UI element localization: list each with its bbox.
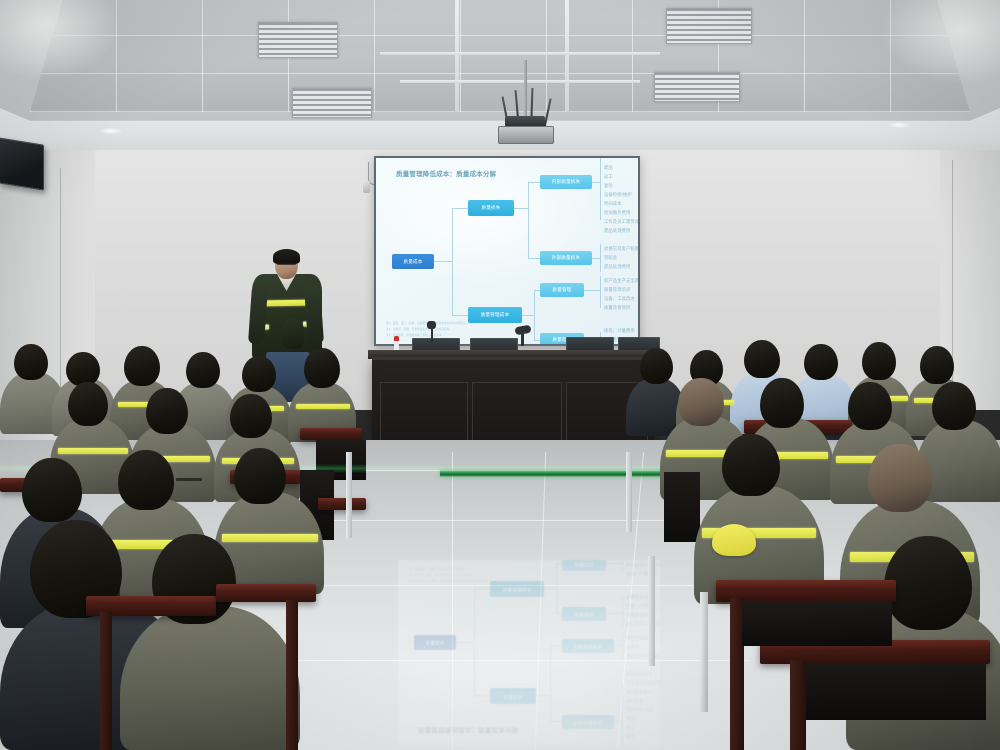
ceiling-vent xyxy=(654,72,740,102)
slide-title: 质量管理降低成本：质量成本分解 xyxy=(418,726,518,735)
mindmap-leaf: 罚赔金 xyxy=(604,255,617,261)
connector xyxy=(528,182,540,184)
audience-head xyxy=(920,346,954,384)
audience-head xyxy=(22,458,82,522)
audience-head xyxy=(868,444,932,512)
connector xyxy=(528,258,540,260)
connector xyxy=(592,258,600,260)
wall-speaker xyxy=(0,137,44,190)
mindmap-leaf: 废品 xyxy=(626,733,635,739)
connector xyxy=(600,244,602,272)
projector-mount-pole xyxy=(524,60,527,118)
mindmap-branch-node: 质量管理成本 xyxy=(490,581,544,597)
screen-wall-plug xyxy=(363,181,370,193)
audience-head-foreground xyxy=(884,536,972,630)
connector xyxy=(550,720,562,722)
audience-head xyxy=(722,434,780,496)
reflective-stripe xyxy=(58,448,128,454)
mindmap-leaf: 废品 xyxy=(604,165,613,171)
slide-footnote: 注2：退换货、赔偿、罚金等发生在交付后的外部损失。 xyxy=(386,327,452,331)
mindmap-leaf: 时间成本 xyxy=(604,201,622,207)
bench-desk xyxy=(300,428,362,440)
downlight xyxy=(888,122,910,128)
audience-head xyxy=(66,352,100,386)
ceiling-beam xyxy=(455,0,459,112)
audience-head xyxy=(640,348,673,384)
connector xyxy=(474,694,490,696)
mindmap-leaf: 返工 xyxy=(604,174,613,180)
reflective-stripe xyxy=(222,534,318,542)
floor-tile-line xyxy=(326,520,686,521)
connector xyxy=(600,276,602,308)
meeting-room-photo: 质量管理降低成本：质量成本分解 质量成本 质量损失 质量管理成本 内部质量损失 … xyxy=(0,0,1000,750)
wall-seam xyxy=(60,168,61,418)
mindmap-leaf: 工作及员工需劳动力损失 xyxy=(626,679,660,685)
mindmap-leaf: 设备检修/维护 xyxy=(626,706,654,712)
bench-desk xyxy=(318,498,366,510)
connector xyxy=(606,562,622,564)
reflective-stripe xyxy=(296,404,350,409)
floor-slide-reflection: 质量管理降低成本：质量成本分解 质量成本 质量损失 质量管理成本 内部质量损失 … xyxy=(398,560,660,746)
connector xyxy=(550,644,562,646)
connector xyxy=(528,182,530,258)
audience-head xyxy=(242,356,276,392)
ceiling-recess xyxy=(30,0,970,112)
audience-torso-foreground xyxy=(120,606,300,750)
mindmap-leaf: 退换货及客户赔偿费用 xyxy=(604,246,638,252)
ceiling-vent xyxy=(666,8,752,44)
mindmap-sub-node: 外部质量损失 xyxy=(540,251,592,265)
connector xyxy=(452,208,468,210)
mindmap-leaf: 废品处理费用 xyxy=(626,670,652,676)
mindmap-root-node: 质量成本 xyxy=(414,635,456,650)
mindmap-leaf: 罚赔金 xyxy=(626,643,639,649)
ceiling-vent xyxy=(292,88,372,118)
mindmap-leaf: 质量改善项目 xyxy=(604,305,630,311)
audience-head xyxy=(304,348,340,388)
desk-shadow xyxy=(742,602,892,646)
mindmap-sub-node: 质量管理 xyxy=(562,607,606,621)
desk-shadow xyxy=(664,472,700,542)
mindmap-branch-node: 质量管理成本 xyxy=(468,307,522,323)
connector xyxy=(534,290,536,340)
audience-head xyxy=(678,378,724,426)
connector xyxy=(452,315,468,317)
connector xyxy=(592,182,600,184)
audience-head xyxy=(862,342,896,380)
ceiling-beam xyxy=(565,0,569,112)
chair-frame xyxy=(790,660,806,750)
audience-head xyxy=(68,382,108,426)
mindmap-sub-node: 外部质量损失 xyxy=(562,639,614,653)
connector xyxy=(622,596,624,628)
mindmap-leaf: 废品处理费用 xyxy=(604,228,630,234)
mindmap-leaf: 附加额外费用 xyxy=(626,688,652,694)
mindmap-sub-node: 内部质量损失 xyxy=(540,175,592,189)
audience-head xyxy=(234,448,286,504)
mindmap-leaf: 设备、工具改进 xyxy=(604,296,635,302)
audience-head xyxy=(760,378,804,428)
desk-metal-leg xyxy=(346,452,352,538)
audience-glasses xyxy=(176,478,202,481)
audience-head xyxy=(848,382,892,430)
connector xyxy=(622,560,624,572)
ceiling-projector xyxy=(498,126,554,144)
mindmap-leaf: 返工 xyxy=(626,724,635,730)
mindmap-leaf: 质量管理培训 xyxy=(604,287,630,293)
connector xyxy=(474,587,490,589)
connector xyxy=(614,644,622,646)
mindmap-sub-node: 质量检验 xyxy=(562,560,606,571)
audience-head xyxy=(124,346,160,386)
mindmap-leaf: 废品处理费用 xyxy=(604,264,630,270)
desk-metal-leg xyxy=(700,592,708,712)
connector xyxy=(614,720,622,722)
chair-frame xyxy=(100,612,112,750)
mindmap-leaf: 时间成本 xyxy=(626,697,644,703)
mindmap-leaf: 设备检修/维护 xyxy=(604,192,632,198)
mindmap-branch-node: 质量损失 xyxy=(468,200,514,216)
connector xyxy=(514,208,528,210)
audience-head xyxy=(744,340,780,378)
desk-metal-leg xyxy=(648,556,655,666)
mindmap-leaf: 复检 xyxy=(626,715,635,721)
mindmap-sub-node: 内部质量损失 xyxy=(562,715,614,729)
ceiling-beam xyxy=(400,80,640,83)
connector xyxy=(474,589,476,696)
audience-head xyxy=(186,352,220,388)
mindmap-sub-node: 质量管理 xyxy=(540,283,584,297)
wall-seam xyxy=(952,160,953,390)
connector xyxy=(622,684,624,746)
slide-footnote: 注1：废品、返工、复检、设备检修维护等发生在交付前的内部损失。 xyxy=(408,579,490,583)
connector xyxy=(584,290,600,292)
connector xyxy=(522,315,534,317)
slide-footnote: 注3：质量管理、质量检验属于预防与鉴定成本。 xyxy=(408,567,466,571)
audience-head xyxy=(118,450,174,510)
connector xyxy=(456,641,474,643)
audience-head xyxy=(932,382,976,430)
mindmap-leaf: 质检、计量费用 xyxy=(604,328,635,334)
chair-frame xyxy=(286,600,298,750)
desk-shadow xyxy=(806,664,986,720)
slide-title: 质量管理降低成本：质量成本分解 xyxy=(396,169,496,178)
bench-desk xyxy=(216,584,316,602)
audience-head xyxy=(230,394,272,438)
presenter-hair xyxy=(273,249,300,264)
mindmap-root-node: 质量成本 xyxy=(392,254,434,269)
connector xyxy=(556,564,558,614)
connector xyxy=(536,694,550,696)
mindmap-branch-node: 质量损失 xyxy=(490,688,536,704)
mindmap-leaf: 附加额外费用 xyxy=(604,210,630,216)
presenter-hand-held-item xyxy=(282,319,304,349)
podium-microphone-left xyxy=(431,327,433,343)
presenter-glasses xyxy=(277,263,296,265)
ceiling-vent xyxy=(258,22,338,58)
audience-head xyxy=(14,344,48,380)
downlight xyxy=(100,128,122,134)
connector xyxy=(550,646,552,722)
ceiling-grid xyxy=(30,0,970,112)
mindmap-leaf: 新产品生产支出及改进 xyxy=(604,278,638,284)
connector xyxy=(452,208,454,315)
mindmap-leaf: 工作及员工需劳动力损失 xyxy=(604,219,638,225)
connector xyxy=(600,158,602,220)
connector xyxy=(606,612,622,614)
projection-screen: 质量管理降低成本：质量成本分解 质量成本 质量损失 质量管理成本 内部质量损失 … xyxy=(374,156,640,346)
audience-head xyxy=(804,344,838,380)
connector xyxy=(544,587,556,589)
connector xyxy=(622,632,624,660)
podium-microphone-left-head xyxy=(427,321,436,329)
mindmap-leaf: 复检 xyxy=(604,183,613,189)
connector xyxy=(434,261,452,263)
yellow-hard-hat xyxy=(712,524,756,556)
ceiling-beam xyxy=(380,52,660,55)
audience-head xyxy=(146,388,188,434)
podium-microphone-right xyxy=(521,334,524,346)
desk-metal-leg xyxy=(626,452,632,532)
slide-footnote: 注2：退换货、赔偿、罚金等发生在交付后的外部损失。 xyxy=(408,573,474,577)
